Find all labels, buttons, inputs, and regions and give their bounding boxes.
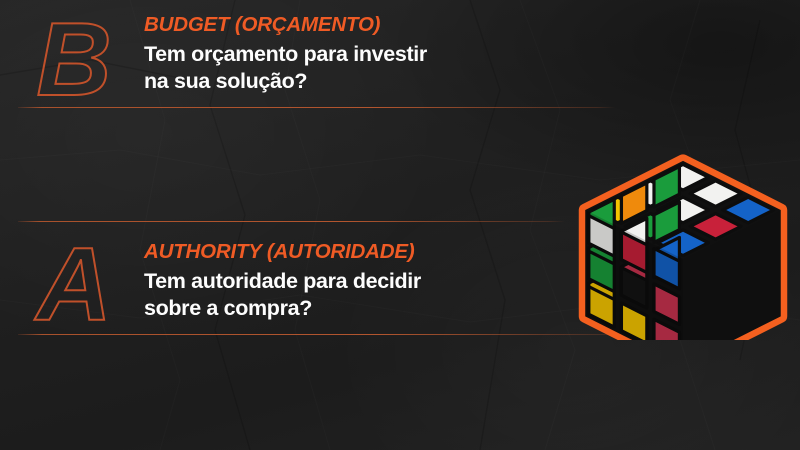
bant-row-timing: T TIMING (TEMPO CERTO) Está no momento c… (0, 342, 800, 450)
bant-row-budget: B BUDGET (ORÇAMENTO) Tem orçamento para … (0, 2, 800, 114)
heading-budget: BUDGET (ORÇAMENTO) (144, 12, 564, 37)
rubiks-cube-icon (566, 104, 800, 340)
bant-slide: B BUDGET (ORÇAMENTO) Tem orçamento para … (0, 0, 800, 450)
body-line-2: na sua solução? (144, 68, 564, 95)
body-budget: Tem orçamento para investir na sua soluç… (144, 41, 564, 94)
big-letter-b: B (14, 8, 132, 112)
divider-2 (18, 221, 565, 222)
rubiks-cube-illustration (566, 104, 800, 340)
divider-3 (18, 334, 620, 335)
body-line-1: Tem orçamento para investir (144, 41, 564, 68)
divider-1 (18, 107, 615, 108)
text-block-budget: BUDGET (ORÇAMENTO) Tem orçamento para in… (144, 12, 564, 94)
